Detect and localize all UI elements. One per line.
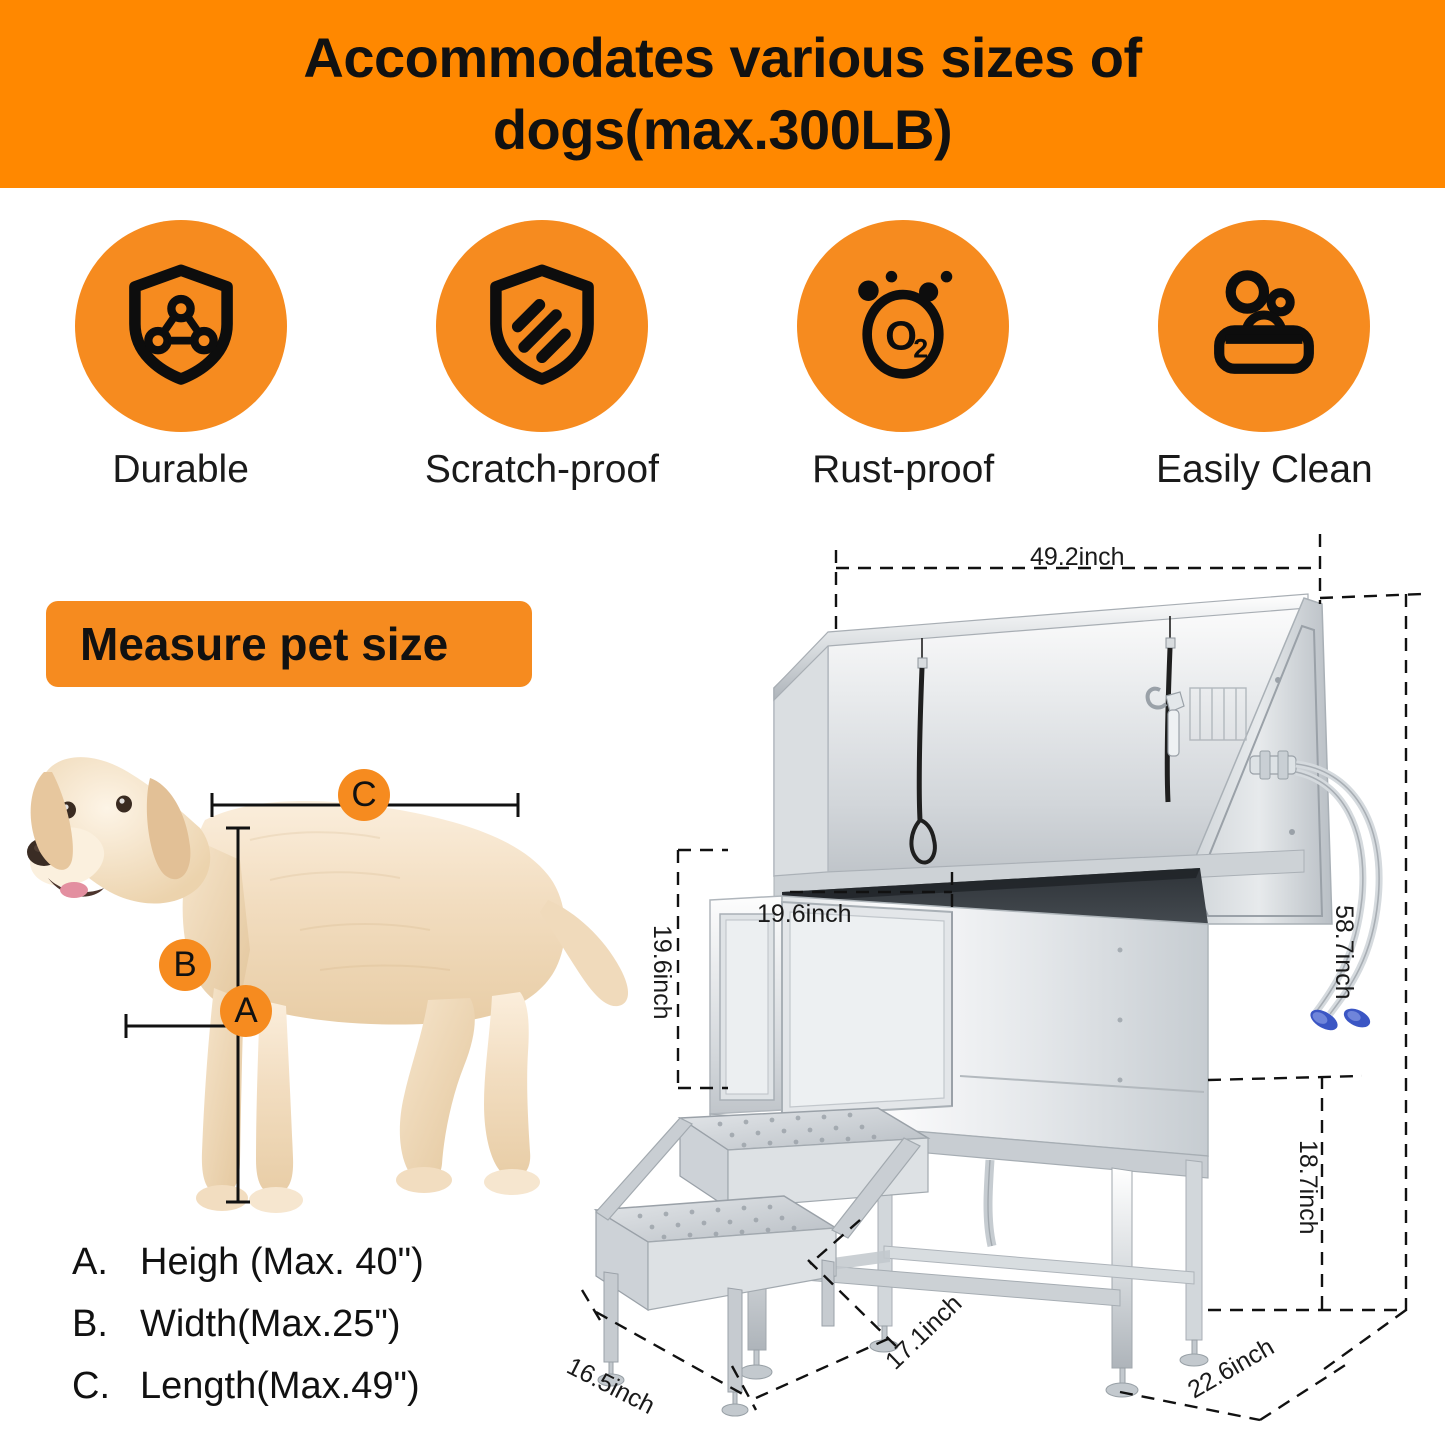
header-banner: Accommodates various sizes of dogs(max.3…	[0, 0, 1445, 188]
feature-item-easily-clean: Easily Clean	[1084, 220, 1445, 500]
legend-key: A.	[72, 1243, 140, 1283]
dimension-label-top-width: 49.2inch	[1030, 543, 1125, 572]
dimension-label-door-width: 19.6inch	[757, 900, 852, 929]
legend-key: C.	[72, 1367, 140, 1407]
dimension-marker-a: A	[220, 985, 272, 1037]
feature-item-durable: Durable	[0, 220, 361, 500]
feature-item-rust-proof: O 2 Rust-proof	[723, 220, 1084, 500]
feature-badge	[75, 220, 287, 432]
legend-item: A. Heigh (Max. 40")	[72, 1243, 542, 1283]
dimension-label-total-height: 58.7inch	[1329, 905, 1358, 1000]
feature-badge	[1158, 220, 1370, 432]
dimension-label-stand-height: 18.7inch	[1293, 1140, 1322, 1235]
shield-network-icon	[117, 260, 245, 393]
legend-item: C. Length(Max.49")	[72, 1367, 542, 1407]
page-title: Accommodates various sizes of dogs(max.3…	[198, 22, 1248, 165]
measurement-legend: A. Heigh (Max. 40") B. Width(Max.25") C.…	[72, 1243, 542, 1429]
feature-list: Durable Scratch-proof	[0, 220, 1445, 500]
svg-text:2: 2	[913, 333, 928, 363]
legend-text: Width(Max.25")	[140, 1305, 401, 1345]
o2-bubble-icon: O 2	[839, 260, 967, 393]
legend-key: B.	[72, 1305, 140, 1345]
dimension-marker-b: B	[159, 939, 211, 991]
measure-pet-size-badge: Measure pet size	[46, 601, 532, 687]
feature-label: Rust-proof	[812, 448, 994, 492]
legend-text: Heigh (Max. 40")	[140, 1243, 424, 1283]
wash-basin-icon	[1200, 260, 1328, 393]
svg-text:O: O	[885, 312, 917, 358]
product-diagram	[560, 520, 1445, 1423]
measure-pet-size-label: Measure pet size	[80, 617, 448, 671]
feature-badge: O 2	[797, 220, 1009, 432]
dog-measurement-illustration	[0, 700, 640, 1230]
feature-badge	[436, 220, 648, 432]
feature-label: Durable	[112, 448, 249, 492]
feature-label: Easily Clean	[1156, 448, 1373, 492]
dimension-marker-c: C	[338, 769, 390, 821]
dimension-label-tub-depth: 19.6inch	[647, 925, 676, 1020]
shield-scratch-icon	[478, 260, 606, 393]
feature-item-scratch-proof: Scratch-proof	[361, 220, 722, 500]
legend-text: Length(Max.49")	[140, 1367, 420, 1407]
feature-label: Scratch-proof	[425, 448, 659, 492]
measurement-guides	[0, 700, 640, 1230]
legend-item: B. Width(Max.25")	[72, 1305, 542, 1345]
dimension-guides	[560, 520, 1445, 1423]
